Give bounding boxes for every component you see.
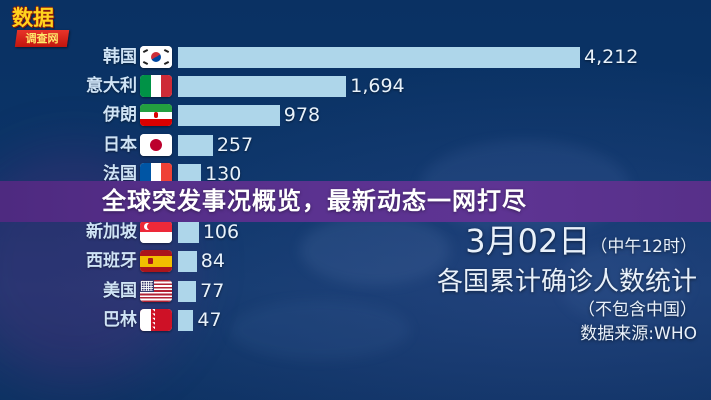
chart-caption: 3月02日（中午12时） 各国累计确诊人数统计 （不包含中国） 数据来源:WHO bbox=[357, 222, 697, 346]
bar-value-label: 1,694 bbox=[350, 73, 404, 99]
flag-icon-iran bbox=[140, 104, 172, 126]
table-row: 意大利1,694 bbox=[0, 73, 711, 99]
bar bbox=[178, 135, 213, 156]
bar-value-label: 4,212 bbox=[584, 44, 638, 70]
caption-note: （不包含中国） bbox=[357, 298, 697, 322]
table-row: 伊朗978 bbox=[0, 102, 711, 128]
flag-icon-singapore bbox=[140, 221, 172, 243]
caption-date: 3月02日 bbox=[465, 222, 590, 260]
bar bbox=[178, 251, 197, 272]
bar bbox=[178, 310, 193, 331]
flag-icon-japan bbox=[140, 134, 172, 156]
flag-icon-italy bbox=[140, 75, 172, 97]
headline-banner: 全球突发事况概览，最新动态一网打尽 bbox=[0, 181, 711, 222]
bar-country-label: 新加坡 bbox=[17, 219, 137, 245]
bar-value-label: 978 bbox=[284, 102, 320, 128]
headline-text: 全球突发事况概览，最新动态一网打尽 bbox=[102, 181, 527, 222]
bar bbox=[178, 47, 580, 68]
caption-hour: （中午12时） bbox=[590, 237, 697, 257]
bar-value-label: 84 bbox=[201, 248, 225, 274]
bar bbox=[178, 76, 346, 97]
bar-country-label: 意大利 bbox=[17, 73, 137, 99]
flag-icon-spain bbox=[140, 250, 172, 272]
bar-value-label: 77 bbox=[200, 278, 224, 304]
bar bbox=[178, 281, 196, 302]
video-frame: 数据 调查网 韩国4,212意大利1,694伊朗978日本257法国130德国1… bbox=[0, 0, 711, 400]
bar-value-label: 47 bbox=[197, 307, 221, 333]
bar-country-label: 韩国 bbox=[17, 44, 137, 70]
logo-title: 数据 bbox=[12, 7, 54, 29]
bar-country-label: 美国 bbox=[17, 278, 137, 304]
flag-icon-united-states bbox=[140, 280, 172, 302]
caption-title: 各国累计确诊人数统计 bbox=[357, 266, 697, 298]
caption-source: 数据来源:WHO bbox=[357, 322, 697, 346]
caption-date-line: 3月02日（中午12时） bbox=[357, 222, 697, 266]
table-row: 韩国4,212 bbox=[0, 44, 711, 70]
bar-country-label: 西班牙 bbox=[17, 248, 137, 274]
bar-country-label: 伊朗 bbox=[17, 102, 137, 128]
bar-country-label: 巴林 bbox=[17, 307, 137, 333]
bar bbox=[178, 105, 280, 126]
bar-country-label: 日本 bbox=[17, 132, 137, 158]
bar-value-label: 106 bbox=[203, 219, 239, 245]
bar-value-label: 257 bbox=[217, 132, 253, 158]
table-row: 日本257 bbox=[0, 132, 711, 158]
bar bbox=[178, 222, 199, 243]
flag-icon-south-korea bbox=[140, 46, 172, 68]
flag-icon-bahrain bbox=[140, 309, 172, 331]
